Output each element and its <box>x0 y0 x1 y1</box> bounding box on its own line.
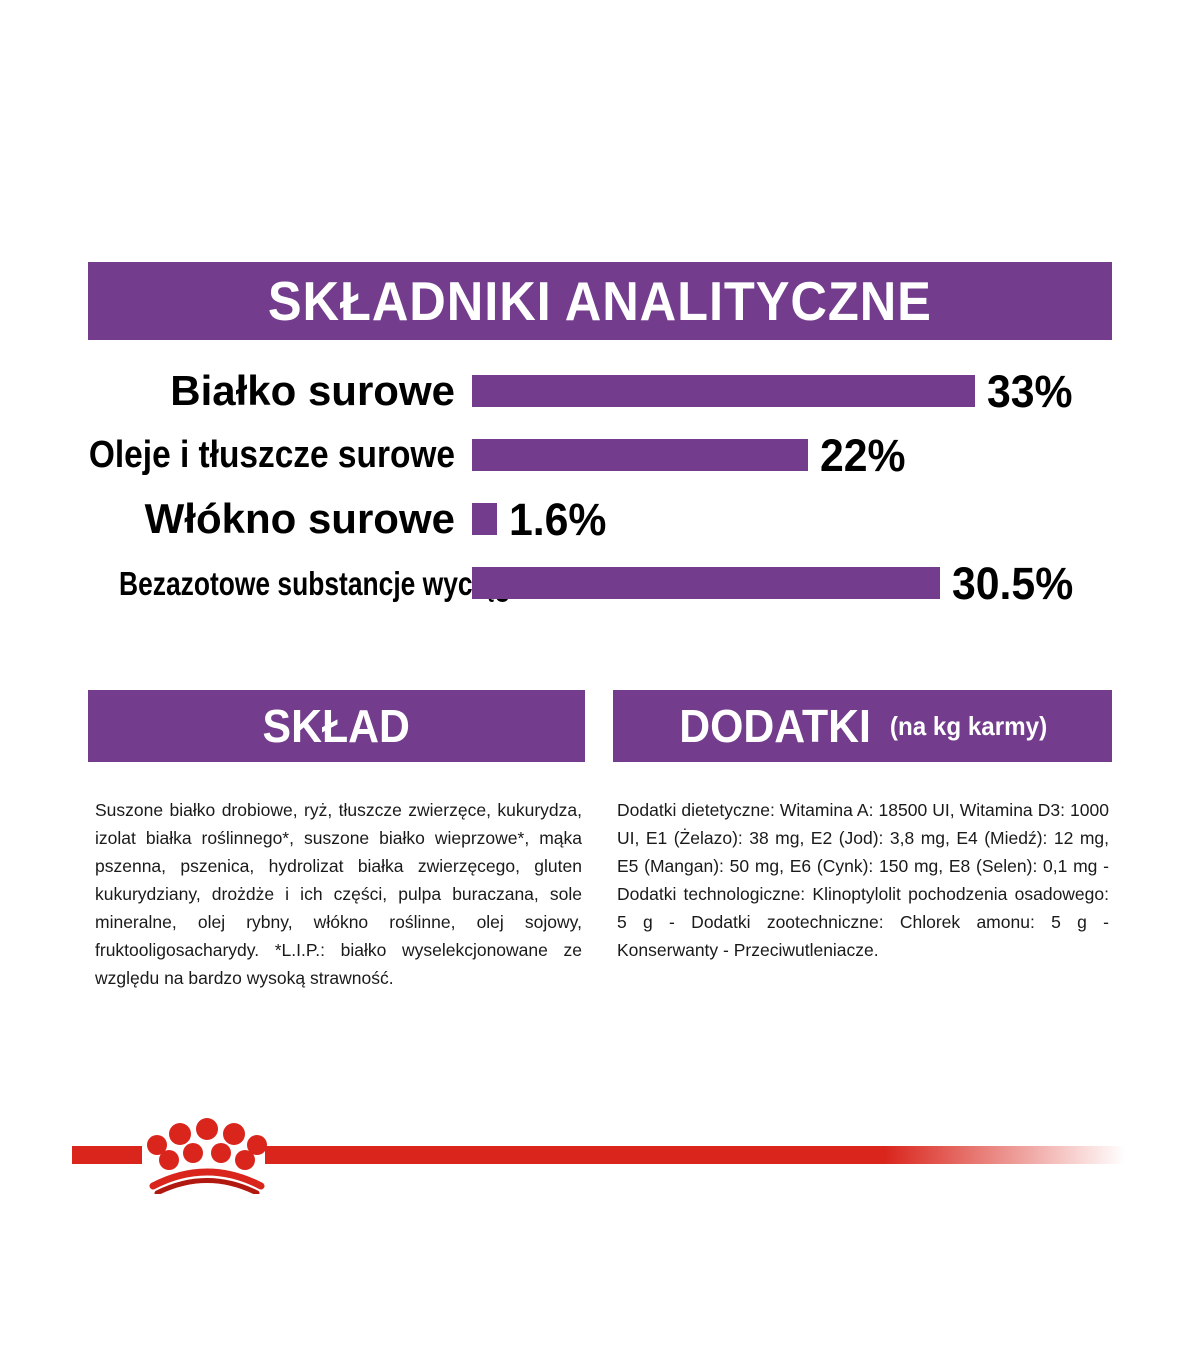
footer-rule-left <box>72 1146 142 1164</box>
analytical-constituents-banner: SKŁADNIKI ANALITYCZNE <box>88 262 1112 340</box>
bar-label: Białko surowe <box>35 370 455 412</box>
bar-value: 22% <box>820 433 906 478</box>
additives-body: Dodatki dietetyczne: Witamina A: 18500 U… <box>617 796 1109 964</box>
analytical-constituents-chart: Białko surowe 33% Oleje i tłuszcze surow… <box>88 368 1112 626</box>
footer <box>0 1108 1200 1198</box>
bar-value: 30.5% <box>952 561 1073 606</box>
bar-fill <box>472 375 975 407</box>
page-title: SKŁADNIKI ANALITYCZNE <box>268 274 932 329</box>
bar-track <box>472 567 940 599</box>
bar-track <box>472 375 975 407</box>
bar-label: Oleje i tłuszcze surowe <box>85 436 455 474</box>
composition-body: Suszone białko drobiowe, ryż, tłuszcze z… <box>95 796 582 992</box>
bar-value: 33% <box>987 369 1073 414</box>
bar-fill <box>472 503 497 535</box>
additives-title: DODATKI <box>679 703 871 749</box>
additives-section-header: DODATKI (na kg karmy) <box>613 690 1112 762</box>
bar-track <box>472 503 497 535</box>
composition-section-header: SKŁAD <box>88 690 585 762</box>
chart-row: Włókno surowe 1.6% <box>88 496 1112 542</box>
additives-subtitle: (na kg karmy) <box>890 713 1047 739</box>
chart-row: Białko surowe 33% <box>88 368 1112 414</box>
bar-fill <box>472 439 808 471</box>
bar-track <box>472 439 808 471</box>
chart-row: Bezazotowe substancje wyciągowe 30.5% <box>88 560 1112 606</box>
bar-label: Włókno surowe <box>35 498 455 540</box>
footer-rule-right <box>265 1146 1125 1164</box>
bar-fill <box>472 567 940 599</box>
bar-label: Bezazotowe substancje wyciągowe <box>119 567 455 600</box>
bar-value: 1.6% <box>509 497 606 542</box>
crown-icon <box>143 1108 271 1194</box>
chart-row: Oleje i tłuszcze surowe 22% <box>88 432 1112 478</box>
composition-title: SKŁAD <box>263 703 410 749</box>
